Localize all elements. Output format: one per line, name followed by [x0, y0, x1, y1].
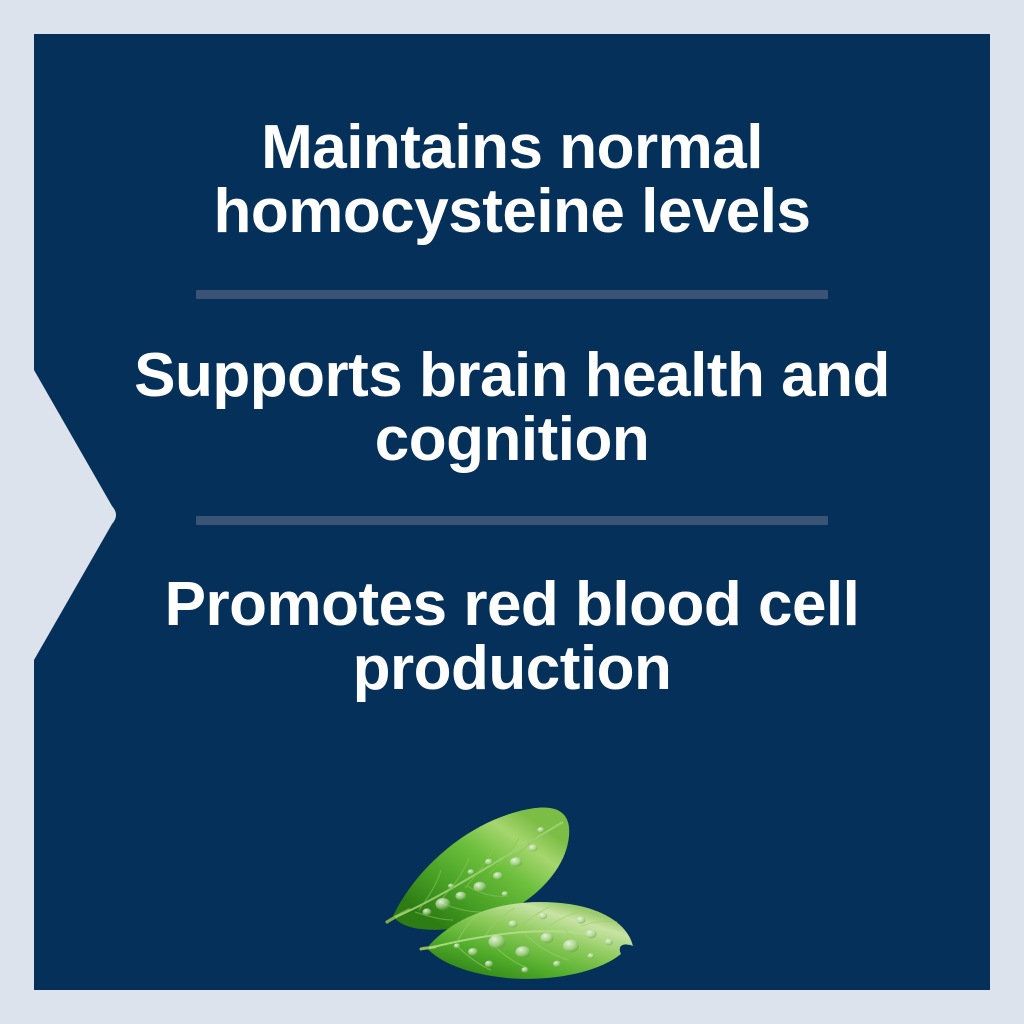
benefit-text-brain-health: Supports brain health and cognition [34, 344, 990, 472]
benefit-text-red-blood-cells: Promotes red blood cell production [34, 573, 990, 701]
benefit-text-homocysteine: Maintains normal homocysteine levels [34, 116, 990, 244]
benefit-divider-1 [196, 290, 828, 299]
benefits-content: Maintains normal homocysteine levels Sup… [34, 34, 990, 990]
benefit-divider-2 [196, 516, 828, 525]
benefits-infographic: Maintains normal homocysteine levels Sup… [0, 0, 1024, 1024]
